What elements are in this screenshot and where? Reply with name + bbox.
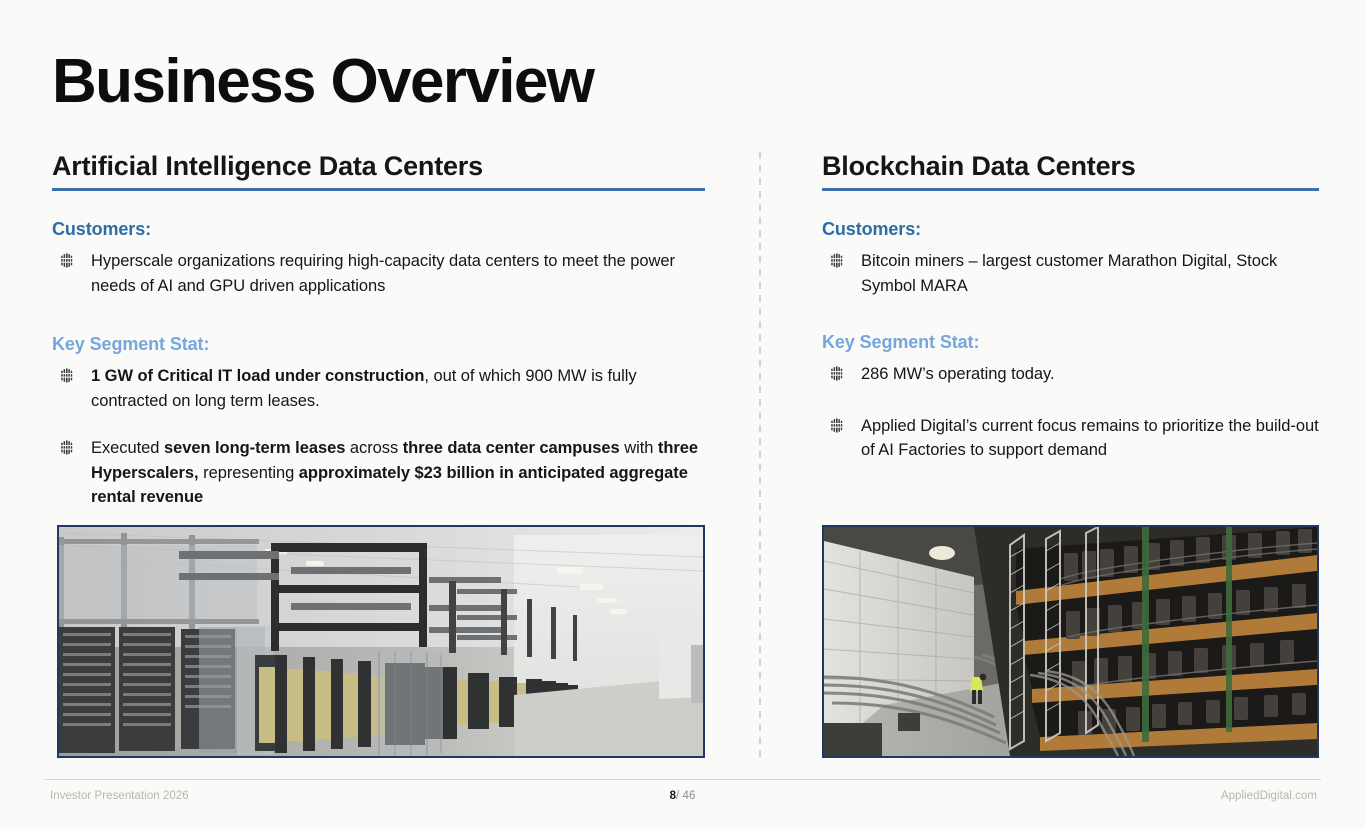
column-ai-data-centers: Artificial Intelligence Data Centers Cus… [52,150,705,510]
column-heading: Blockchain Data Centers [822,150,1319,183]
bullet-text: Bitcoin miners – largest customer Marath… [861,252,1277,295]
customers-label: Customers: [52,218,705,240]
column-divider [759,152,761,760]
bullet-text: Hyperscale organizations requiring high-… [91,252,675,295]
bullet-text-run: Hyperscale organizations requiring high-… [91,252,675,295]
bullet-text-run: 286 MW’s operating today. [861,365,1055,383]
customers-bullet-list: Bitcoin miners – largest customer Marath… [822,249,1319,298]
bullet-item: Executed seven long-term leases across t… [52,436,705,510]
customers-block: Customers: Hyperscale organizations requ… [52,218,705,298]
footer-divider [44,779,1321,780]
bullet-text: 1 GW of Critical IT load under construct… [91,367,637,410]
footer-website-label: AppliedDigital.com [1221,789,1317,803]
bullet-item: 286 MW’s operating today. [822,362,1319,387]
bullet-text-run: Applied Digital’s current focus remains … [861,417,1319,460]
bullet-item: Bitcoin miners – largest customer Marath… [822,249,1319,298]
heading-underline [52,188,705,191]
bullet-text: 286 MW’s operating today. [861,365,1055,383]
bullet-item: Applied Digital’s current focus remains … [822,414,1319,463]
bullet-text-run: representing [199,464,299,482]
ornament-bullet-icon [830,253,843,268]
heading-underline [822,188,1319,191]
bullet-item: 1 GW of Critical IT load under construct… [52,364,705,413]
column-blockchain-data-centers: Blockchain Data Centers Customers: Bitco… [822,150,1319,463]
ornament-bullet-icon [60,253,73,268]
bullet-text: Executed seven long-term leases across t… [91,439,698,506]
footer-page-number: 8/ 46 [0,789,1365,803]
page-title: Business Overview [52,45,593,119]
key-segment-stat-bullet-list: 1 GW of Critical IT load under construct… [52,364,705,510]
bullet-text-emphasis: 1 GW of Critical IT load under construct… [91,367,424,385]
key-segment-stat-block: Key Segment Stat: 1 GW of Critical IT lo… [52,333,705,510]
bullet-text: Applied Digital’s current focus remains … [861,417,1319,460]
ornament-bullet-icon [60,440,73,455]
key-segment-stat-label: Key Segment Stat: [822,331,1319,353]
key-segment-stat-bullet-list: 286 MW’s operating today.Applied Digital… [822,362,1319,463]
bullet-text-emphasis: three data center campuses [403,439,620,457]
column-heading: Artificial Intelligence Data Centers [52,150,705,183]
bullet-text-run: with [620,439,658,457]
customers-label: Customers: [822,218,1319,240]
customers-block: Customers: Bitcoin miners – largest cust… [822,218,1319,298]
ornament-bullet-icon [60,368,73,383]
bullet-item: Hyperscale organizations requiring high-… [52,249,705,298]
page-total: / 46 [676,790,695,802]
bullet-text-emphasis: seven long-term leases [164,439,345,457]
bitcoin-mining-facility-photo [822,525,1319,758]
ornament-bullet-icon [830,418,843,433]
key-segment-stat-block: Key Segment Stat: 286 MW’s operating tod… [822,331,1319,463]
ornament-bullet-icon [830,366,843,381]
bullet-text-run: Bitcoin miners – largest customer Marath… [861,252,1277,295]
data-center-hall-photo [57,525,705,758]
bullet-text-run: across [345,439,402,457]
key-segment-stat-label: Key Segment Stat: [52,333,705,355]
bullet-text-run: Executed [91,439,164,457]
customers-bullet-list: Hyperscale organizations requiring high-… [52,249,705,298]
